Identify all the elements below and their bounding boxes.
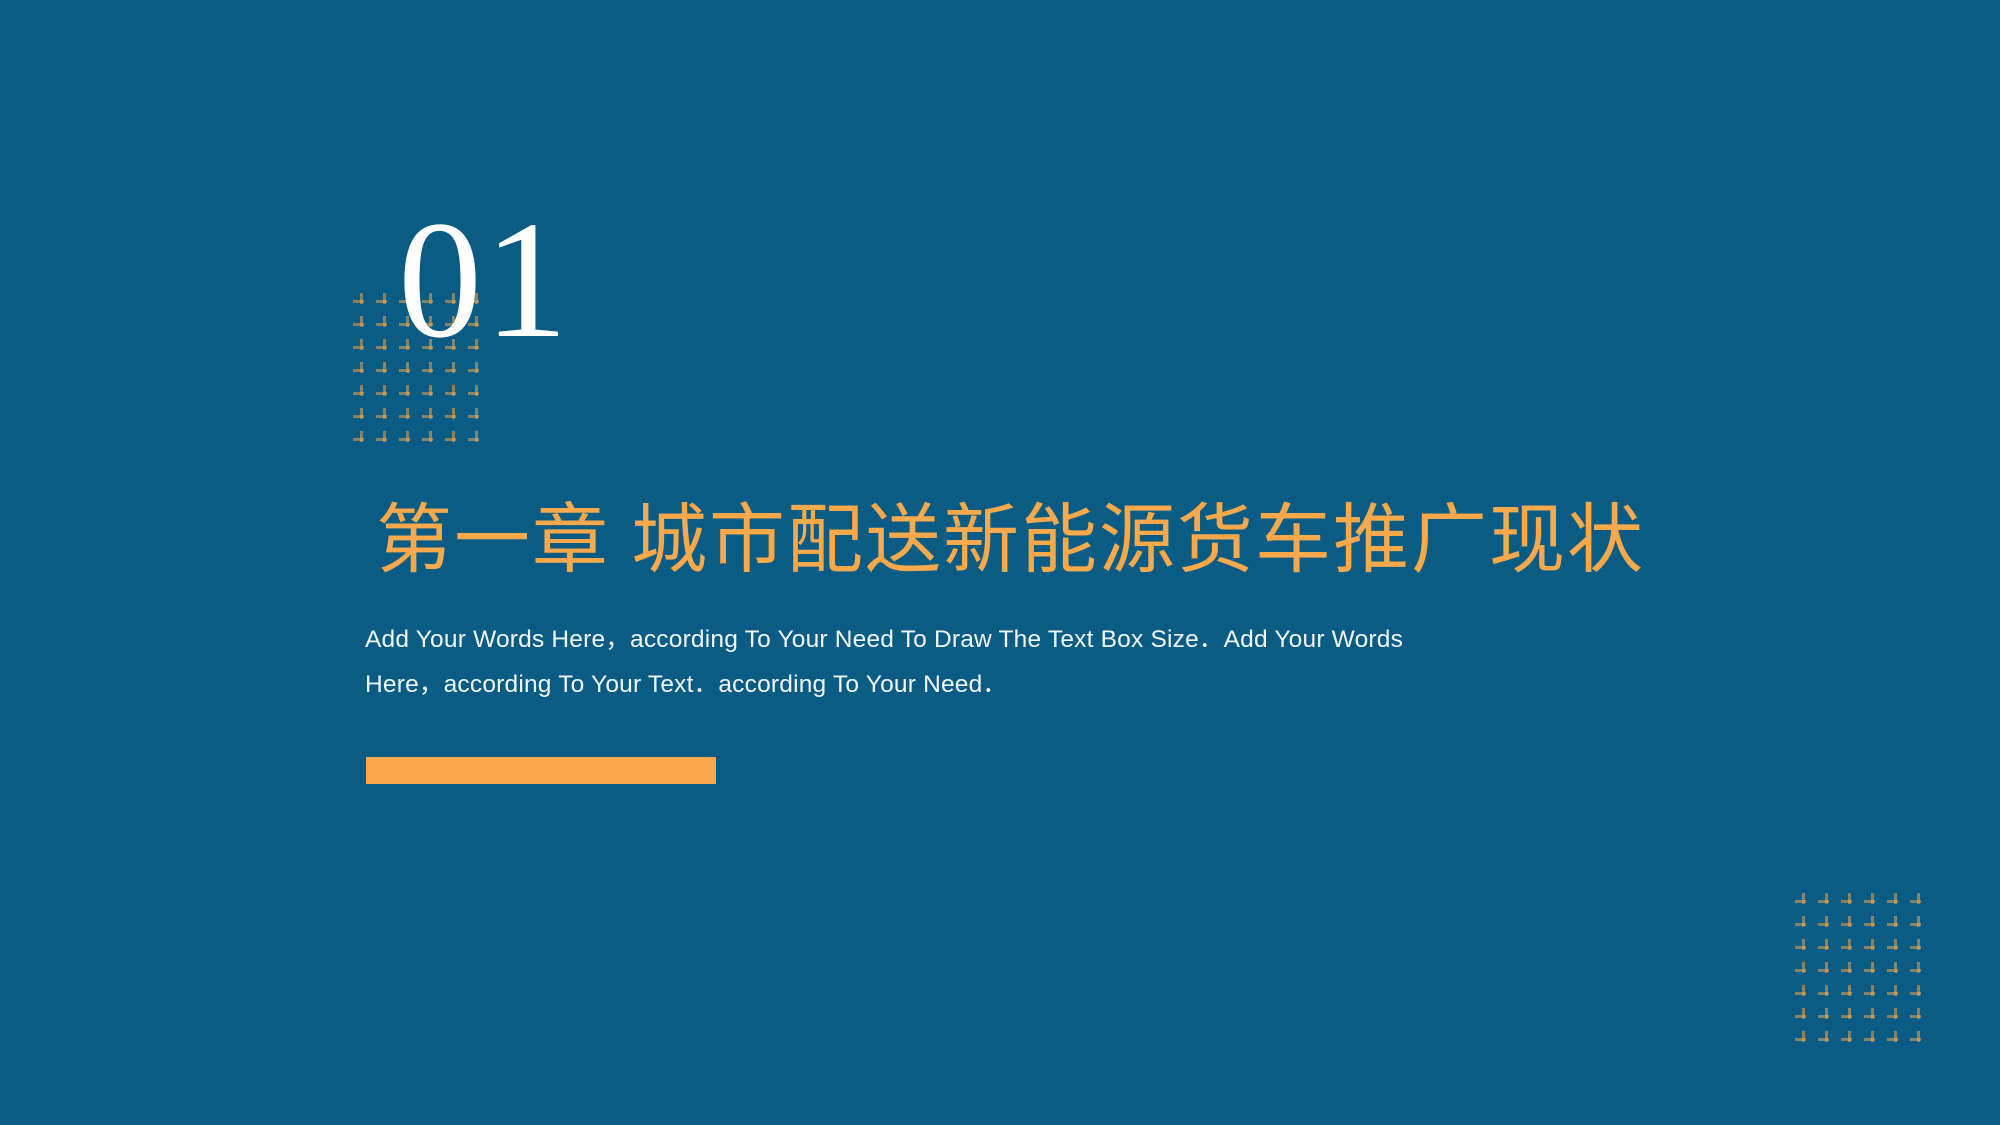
plus-icon bbox=[442, 405, 465, 428]
plus-icon bbox=[1815, 982, 1838, 1005]
plus-icon bbox=[1884, 913, 1907, 936]
plus-icon bbox=[1792, 959, 1815, 982]
plus-icon bbox=[1792, 913, 1815, 936]
plus-icon bbox=[1815, 1028, 1838, 1051]
plus-icon bbox=[1792, 1005, 1815, 1028]
plus-icon bbox=[1861, 890, 1884, 913]
plus-icon bbox=[419, 405, 442, 428]
plus-icon bbox=[1838, 1028, 1861, 1051]
plus-icon bbox=[419, 382, 442, 405]
plus-icon bbox=[1861, 959, 1884, 982]
plus-icon bbox=[1907, 936, 1930, 959]
plus-icon bbox=[1884, 1005, 1907, 1028]
accent-bar bbox=[366, 757, 716, 784]
plus-icon bbox=[1815, 936, 1838, 959]
plus-icon bbox=[1838, 959, 1861, 982]
plus-icon bbox=[1907, 913, 1930, 936]
plus-icon bbox=[1861, 1028, 1884, 1051]
plus-icon bbox=[1907, 1005, 1930, 1028]
plus-icon bbox=[1838, 1005, 1861, 1028]
plus-icon bbox=[373, 290, 396, 313]
plus-icon bbox=[1884, 890, 1907, 913]
plus-icon bbox=[1815, 890, 1838, 913]
plus-icon bbox=[1861, 1005, 1884, 1028]
plus-icon bbox=[350, 405, 373, 428]
plus-icon bbox=[1792, 982, 1815, 1005]
plus-icon bbox=[1838, 913, 1861, 936]
chapter-divider-slide: 01 第一章 城市配送新能源货车推广现状 Add Your Words Here… bbox=[0, 0, 2000, 1125]
plus-icon bbox=[350, 336, 373, 359]
plus-icon bbox=[1907, 982, 1930, 1005]
plus-icon bbox=[1815, 959, 1838, 982]
plus-icon bbox=[465, 382, 488, 405]
plus-icon bbox=[1907, 1028, 1930, 1051]
plus-icon bbox=[396, 428, 419, 451]
plus-icon bbox=[350, 290, 373, 313]
plus-icon bbox=[1884, 959, 1907, 982]
plus-icon bbox=[1861, 913, 1884, 936]
plus-icon bbox=[350, 313, 373, 336]
plus-icon bbox=[373, 405, 396, 428]
plus-icon bbox=[1884, 936, 1907, 959]
plus-icon bbox=[373, 336, 396, 359]
plus-icon bbox=[373, 359, 396, 382]
plus-icon bbox=[1861, 982, 1884, 1005]
plus-icon bbox=[373, 428, 396, 451]
plus-icon bbox=[442, 428, 465, 451]
plus-icon bbox=[1884, 982, 1907, 1005]
plus-icon bbox=[373, 313, 396, 336]
plus-icon bbox=[1838, 982, 1861, 1005]
decorative-plus-grid-bottom-right bbox=[1792, 890, 1930, 1051]
plus-icon bbox=[350, 382, 373, 405]
plus-icon bbox=[442, 382, 465, 405]
plus-icon bbox=[1907, 959, 1930, 982]
plus-icon bbox=[373, 382, 396, 405]
plus-icon bbox=[1838, 936, 1861, 959]
plus-icon bbox=[396, 405, 419, 428]
plus-icon bbox=[1815, 1005, 1838, 1028]
plus-icon bbox=[1792, 890, 1815, 913]
plus-icon bbox=[1792, 936, 1815, 959]
plus-icon bbox=[465, 428, 488, 451]
plus-icon bbox=[350, 359, 373, 382]
plus-icon bbox=[1861, 936, 1884, 959]
chapter-body-text: Add Your Words Here，according To Your Ne… bbox=[365, 617, 1435, 707]
plus-icon bbox=[465, 405, 488, 428]
plus-icon bbox=[1907, 890, 1930, 913]
plus-icon bbox=[396, 382, 419, 405]
chapter-number: 01 bbox=[398, 196, 570, 364]
plus-icon bbox=[1884, 1028, 1907, 1051]
plus-icon bbox=[1838, 890, 1861, 913]
plus-icon bbox=[350, 428, 373, 451]
plus-icon bbox=[1792, 1028, 1815, 1051]
chapter-title: 第一章 城市配送新能源货车推广现状 bbox=[376, 498, 1645, 585]
plus-icon bbox=[1815, 913, 1838, 936]
plus-icon bbox=[419, 428, 442, 451]
